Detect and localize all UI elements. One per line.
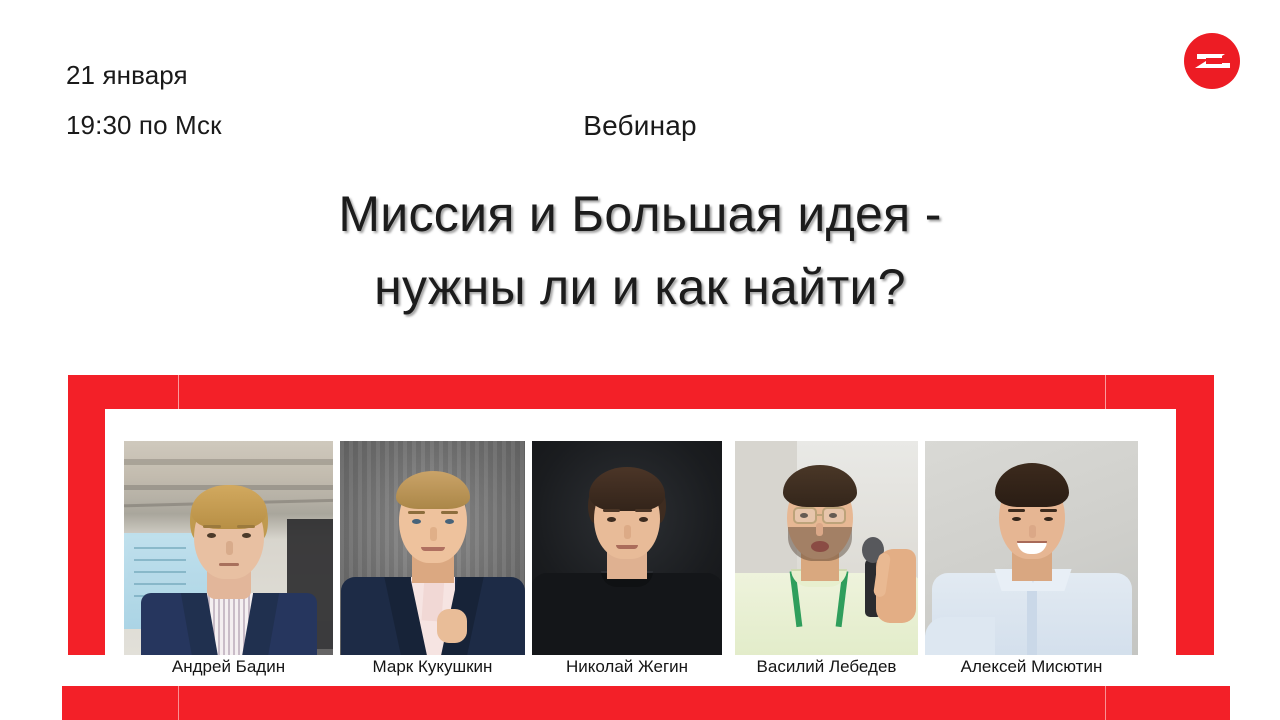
company-logo <box>1181 30 1243 92</box>
speaker-name: Андрей Бадин <box>106 657 351 677</box>
speaker-card[interactable]: Николай Жегин <box>532 441 722 655</box>
speakers-row: Андрей Бадин Марк Кукушкин <box>124 441 1138 680</box>
speaker-name: Николай Жегин <box>514 657 740 677</box>
page-title: Миссия и Большая идея - нужны ли и как н… <box>0 178 1280 324</box>
title-line-1: Миссия и Большая идея - <box>0 178 1280 251</box>
portrait-photo-2 <box>340 441 525 655</box>
portrait-photo-5 <box>925 441 1138 655</box>
event-date: 21 января <box>66 60 188 91</box>
portrait-photo-1 <box>124 441 333 655</box>
speaker-card[interactable]: Марк Кукушкин <box>340 441 525 655</box>
guide-line-right-bottom <box>1105 686 1106 720</box>
speaker-name: Марк Кукушкин <box>322 657 543 677</box>
portrait-photo-4 <box>735 441 918 655</box>
guide-line-left-bottom <box>178 686 179 720</box>
circle-z-logo-icon <box>1181 30 1243 92</box>
portrait-photo-3 <box>532 441 722 655</box>
speaker-card[interactable]: Алексей Мисютин <box>925 441 1138 655</box>
speaker-card[interactable]: Василий Лебедев <box>735 441 918 655</box>
speaker-name: Василий Лебедев <box>717 657 936 677</box>
speaker-card[interactable]: Андрей Бадин <box>124 441 333 655</box>
event-type-label: Вебинар <box>0 110 1280 142</box>
webinar-slide: 21 января 19:30 по Мск Вебинар Миссия и … <box>0 0 1280 720</box>
bottom-red-band <box>62 686 1230 720</box>
speaker-name: Алексей Мисютин <box>907 657 1156 677</box>
title-line-2: нужны ли и как найти? <box>0 251 1280 324</box>
